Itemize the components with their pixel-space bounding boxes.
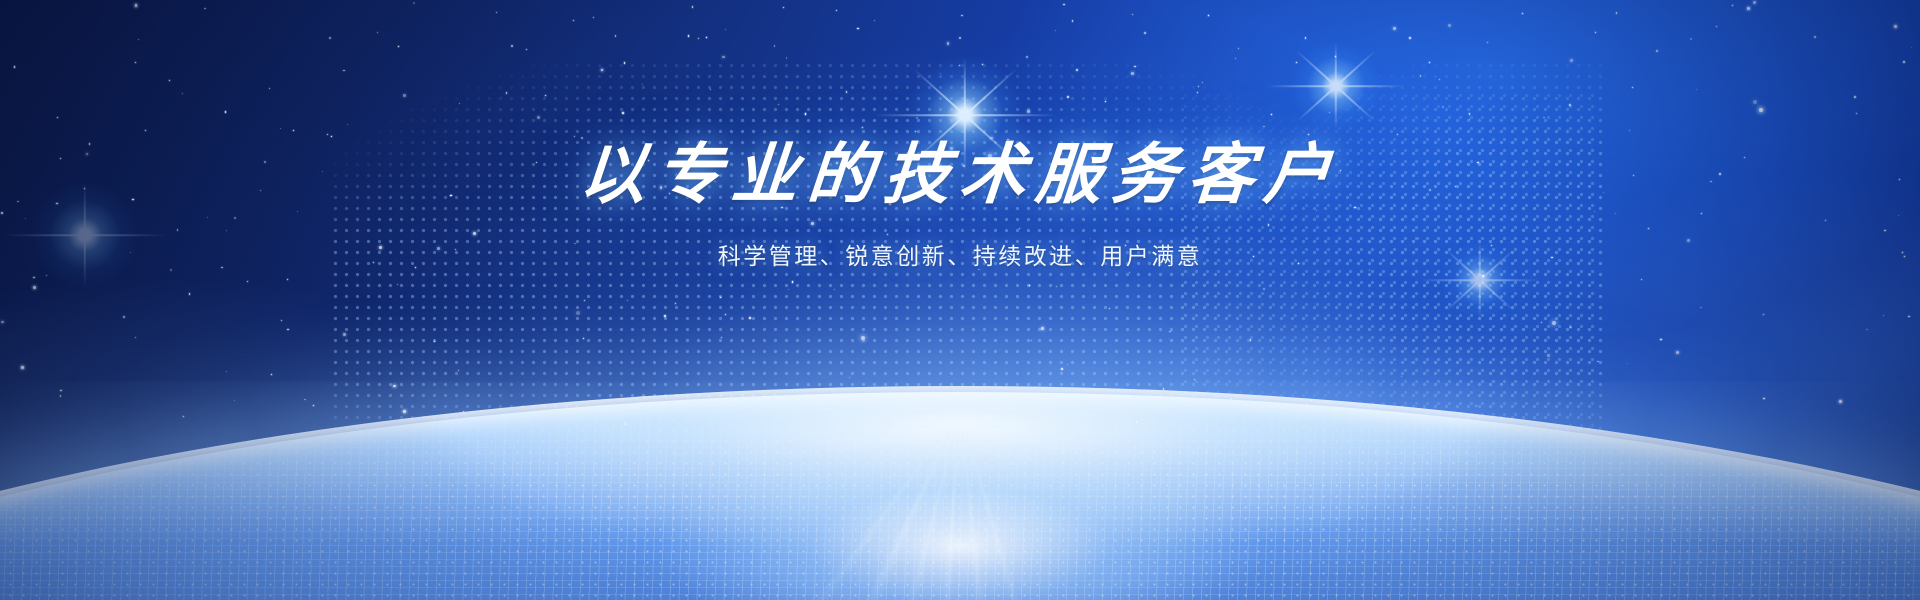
hero-banner: 以专业的技术服务客户 科学管理、锐意创新、持续改进、用户满意	[0, 0, 1920, 600]
vignette-overlay	[0, 0, 1920, 600]
